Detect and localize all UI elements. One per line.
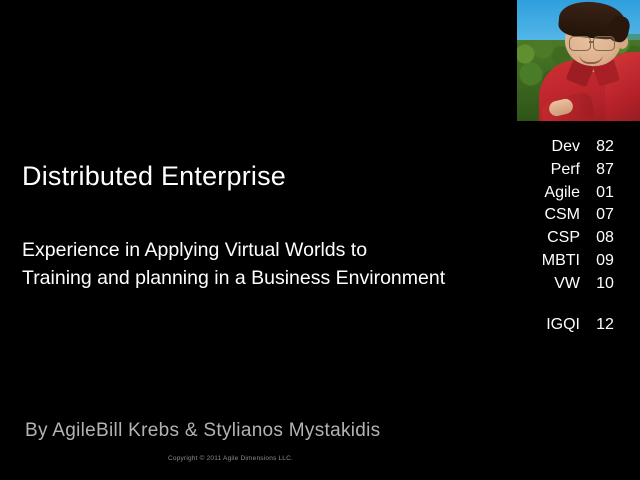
credential-label: CSP: [518, 229, 580, 247]
credential-row: Agile01: [518, 184, 630, 207]
credential-row: Dev82: [518, 138, 630, 161]
credential-row: Perf87: [518, 161, 630, 184]
slide-subtitle-line-1: Experience in Applying Virtual Worlds to: [22, 236, 445, 264]
presentation-slide: Distributed Enterprise Experience in App…: [0, 0, 640, 480]
slide-subtitle-line-2: Training and planning in a Business Envi…: [22, 264, 445, 292]
credential-row: CSP08: [518, 229, 630, 252]
slide-subtitle: Experience in Applying Virtual Worlds to…: [22, 236, 445, 292]
presenter-photo: [517, 0, 640, 121]
credential-row: CSM07: [518, 206, 630, 229]
credential-value: 10: [580, 275, 630, 293]
credential-label: Agile: [518, 184, 580, 202]
credential-value: 87: [580, 161, 630, 179]
photo-glasses-left-lens: [569, 36, 591, 51]
slide-byline: By AgileBill Krebs & Stylianos Mystakidi…: [25, 420, 381, 442]
credential-value: 12: [580, 316, 630, 334]
credential-row: VW10: [518, 275, 630, 298]
credential-row: IGQI12: [518, 316, 630, 339]
credential-value: 82: [580, 138, 630, 156]
credential-label: VW: [518, 275, 580, 293]
credential-label: Perf: [518, 161, 580, 179]
credentials-table: Dev82Perf87Agile01CSM07CSP08MBTI09VW10IG…: [518, 138, 630, 338]
slide-copyright: Copyright © 2011 Agile Dimensions LLC.: [168, 455, 293, 462]
credential-label: CSM: [518, 206, 580, 224]
credential-value: 08: [580, 229, 630, 247]
slide-title: Distributed Enterprise: [22, 161, 286, 192]
credential-label: MBTI: [518, 252, 580, 270]
credential-label: Dev: [518, 138, 580, 156]
credential-row: MBTI09: [518, 252, 630, 275]
credential-label: IGQI: [518, 316, 580, 334]
credential-value: 07: [580, 206, 630, 224]
credential-value: 01: [580, 184, 630, 202]
photo-glasses-right-lens: [593, 36, 615, 51]
credential-value: 09: [580, 252, 630, 270]
photo-glasses-bridge: [589, 41, 594, 43]
